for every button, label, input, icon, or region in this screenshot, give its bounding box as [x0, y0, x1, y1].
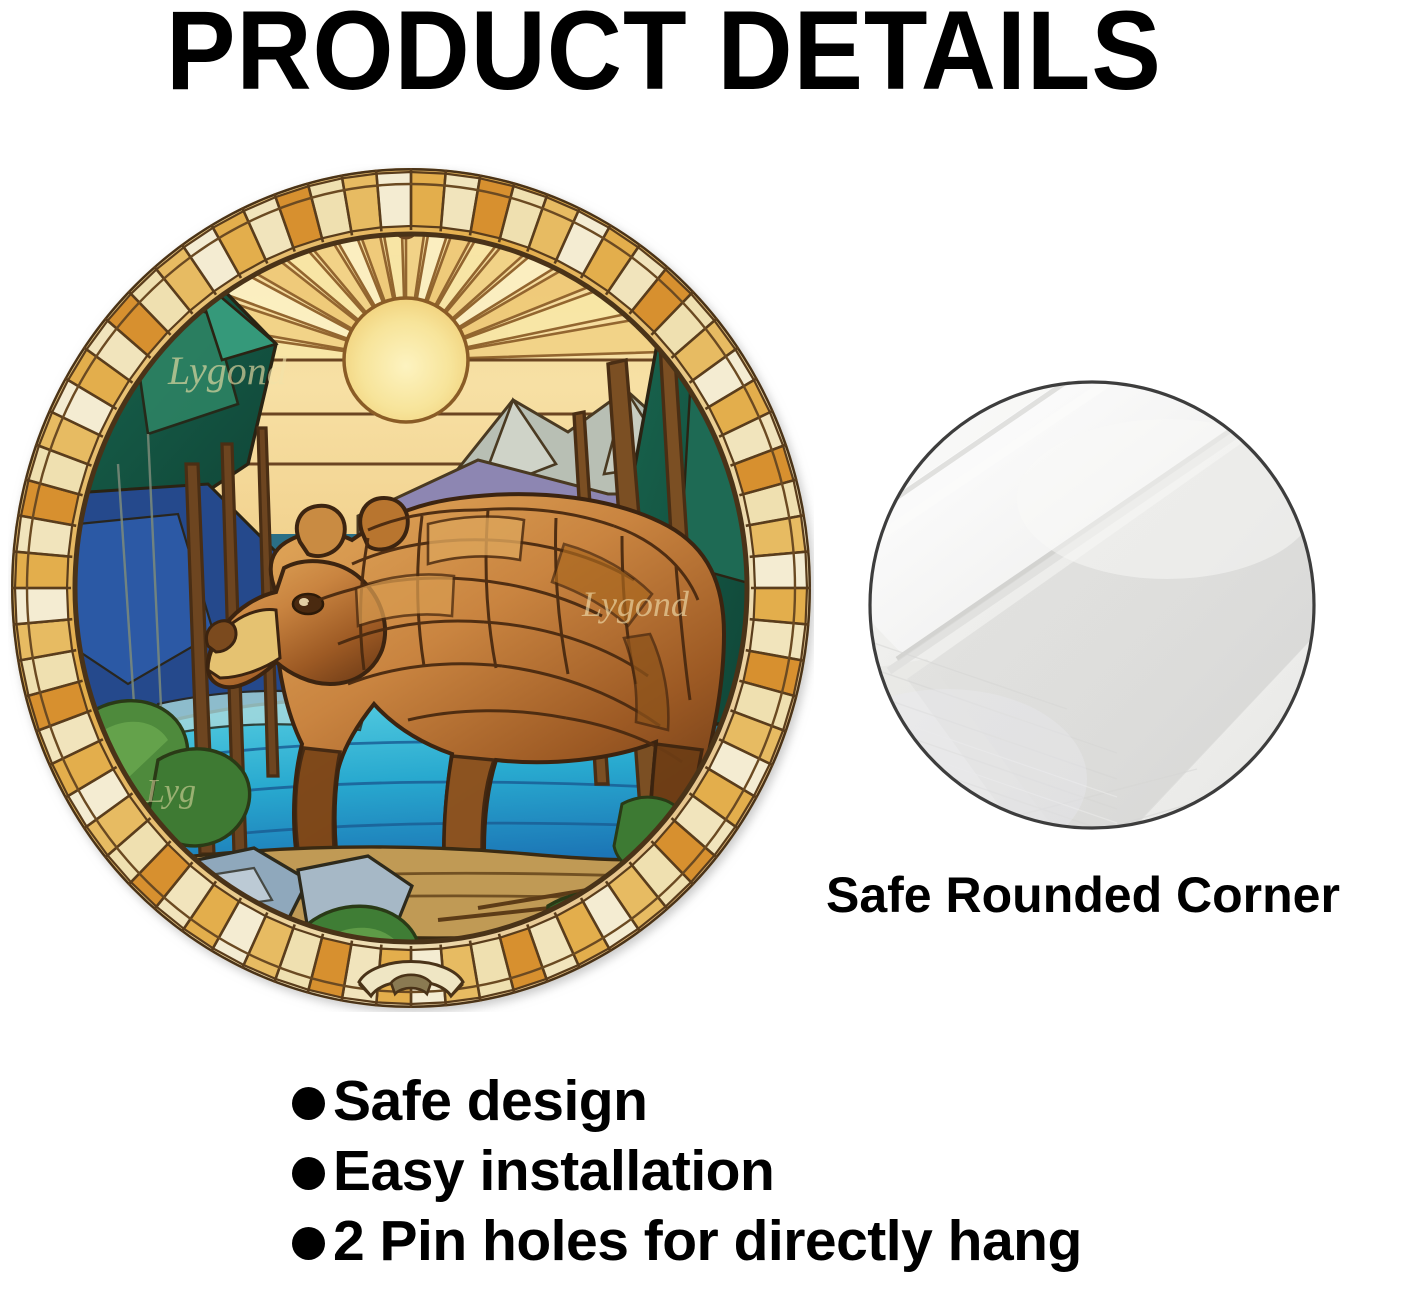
bullet-icon	[292, 1157, 325, 1190]
list-item: Easy installation	[292, 1136, 1082, 1206]
feature-list: Safe design Easy installation 2 Pin hole…	[292, 1066, 1082, 1276]
list-item: Safe design	[292, 1066, 1082, 1136]
bullet-icon	[292, 1087, 325, 1120]
watermark-lyg-bottom-left: Lyg	[145, 773, 196, 810]
rounded-corner-illustration	[867, 379, 1317, 831]
rounded-corner-photo	[867, 379, 1317, 831]
bullet-icon	[292, 1227, 325, 1260]
watermark-lygond-top-left: Lygond	[167, 348, 288, 393]
sun	[344, 298, 468, 422]
bear-ear-left	[297, 506, 345, 556]
list-item: 2 Pin holes for directly hang	[292, 1206, 1082, 1276]
product-image-stained-glass-bear: Lygond Lygond Lyg	[8, 164, 814, 1012]
watermark-lygond-center: Lygond	[581, 584, 690, 624]
stained-glass-illustration: Lygond Lygond Lyg	[8, 164, 814, 1012]
corner-caption: Safe Rounded Corner	[826, 866, 1340, 924]
page-title: PRODUCT DETAILS	[166, 0, 1162, 110]
disc-content: Lygond Lygond Lyg	[8, 164, 814, 1008]
feature-label: 2 Pin holes for directly hang	[333, 1208, 1082, 1274]
feature-label: Easy installation	[333, 1138, 774, 1204]
feature-label: Safe design	[333, 1068, 647, 1134]
